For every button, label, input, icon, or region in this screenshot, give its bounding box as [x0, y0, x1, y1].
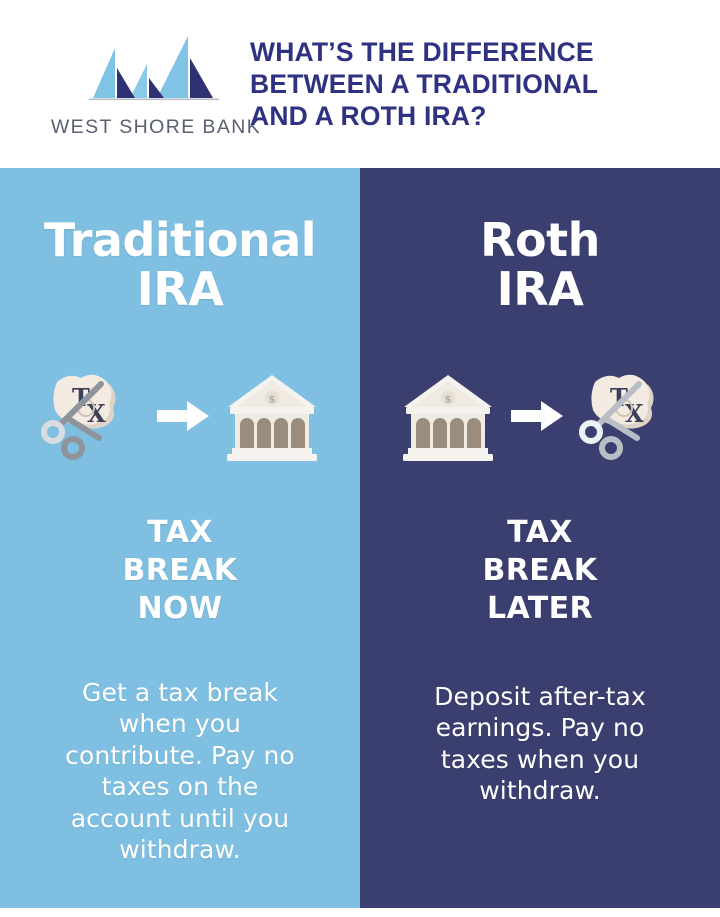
infographic-root: WEST SHORE BANK WHAT’S THE DIFFERENCE BE…: [0, 0, 720, 917]
panel-kicker-roth-line-2: BREAK: [483, 552, 598, 590]
svg-text:$: $: [445, 394, 452, 405]
logo-wordmark: WEST SHORE BANK: [51, 116, 261, 139]
panel-heading-traditional-line-1: Traditional: [44, 213, 316, 267]
page-title-line-2: BETWEEN A TRADITIONAL: [250, 68, 696, 100]
page-title-line-3: AND A ROTH IRA?: [250, 100, 696, 132]
panel-traditional-ira: Traditional IRA T X: [0, 168, 360, 908]
flow-traditional: T X $: [39, 362, 321, 470]
tax-paper-scissors-icon: T X: [39, 364, 143, 468]
panel-heading-traditional-line-2: IRA: [44, 265, 316, 314]
panel-heading-roth-line-2: IRA: [480, 265, 600, 314]
panel-kicker-traditional: TAX BREAK NOW: [123, 514, 238, 629]
west-shore-bank-sailboat-logo: [85, 34, 227, 112]
bank-building-icon: $: [399, 367, 497, 465]
panel-kicker-traditional-line-3: NOW: [123, 590, 238, 628]
panel-kicker-roth-line-1: TAX: [483, 514, 598, 552]
footer-strip: [0, 908, 720, 917]
tax-paper-scissors-icon: T X: [577, 364, 681, 468]
panel-heading-traditional: Traditional IRA: [44, 216, 316, 314]
panel-body-traditional: Get a tax break when you contribute. Pay…: [50, 677, 310, 866]
header: WEST SHORE BANK WHAT’S THE DIFFERENCE BE…: [0, 0, 720, 168]
panel-kicker-roth-line-3: LATER: [483, 590, 598, 628]
panel-kicker-roth: TAX BREAK LATER: [483, 514, 598, 629]
svg-text:X: X: [625, 399, 644, 428]
panel-kicker-traditional-line-1: TAX: [123, 514, 238, 552]
panel-body-roth: Deposit after-tax earnings. Pay no taxes…: [410, 681, 670, 807]
arrow-right-icon: [511, 399, 563, 433]
panel-kicker-traditional-line-2: BREAK: [123, 552, 238, 590]
panel-heading-roth-line-1: Roth: [480, 213, 600, 267]
flow-roth: $ T X: [399, 362, 681, 470]
logo-block: WEST SHORE BANK: [0, 30, 250, 139]
svg-text:X: X: [87, 399, 106, 428]
panel-heading-roth: Roth IRA: [480, 216, 600, 314]
arrow-right-icon: [157, 399, 209, 433]
svg-text:$: $: [269, 394, 276, 405]
page-title-line-1: WHAT’S THE DIFFERENCE: [250, 36, 696, 68]
comparison-panels: Traditional IRA T X: [0, 168, 720, 908]
page-title: WHAT’S THE DIFFERENCE BETWEEN A TRADITIO…: [250, 36, 720, 133]
bank-building-icon: $: [223, 367, 321, 465]
panel-roth-ira: Roth IRA $: [360, 168, 720, 908]
